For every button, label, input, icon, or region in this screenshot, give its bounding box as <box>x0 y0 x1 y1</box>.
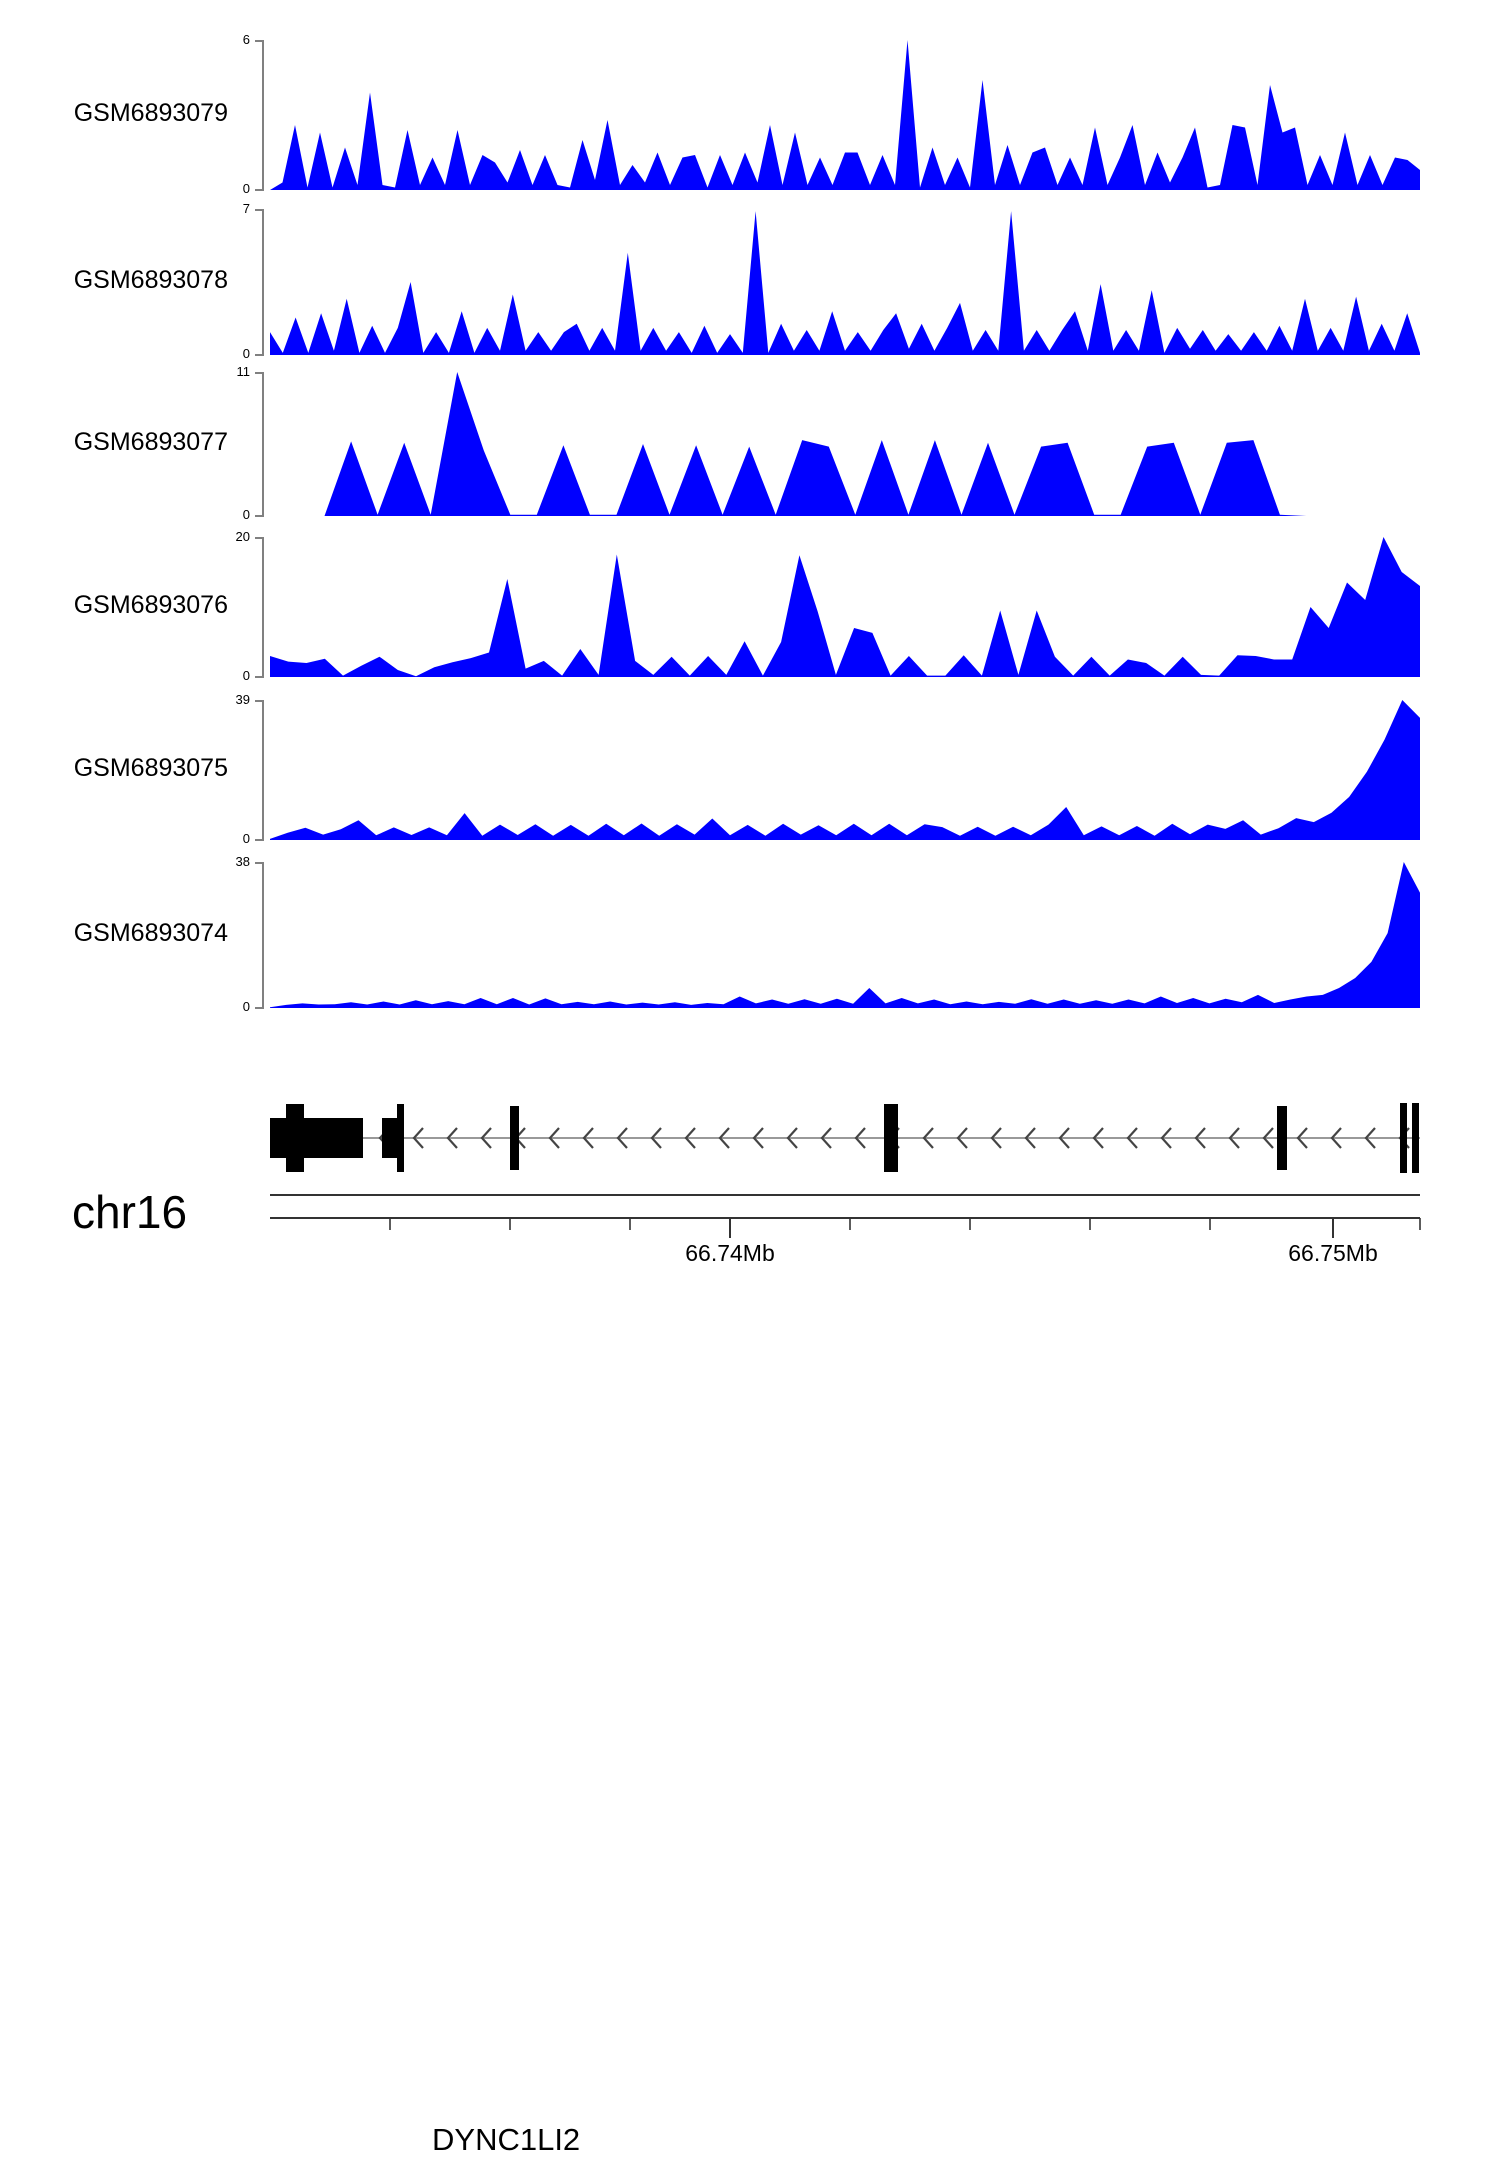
coverage-area-GSM6893078 <box>270 209 1420 355</box>
y-axis-min-label: 0 <box>210 507 250 522</box>
y-axis-tick-min <box>255 1007 264 1009</box>
coverage-area-GSM6893074 <box>270 862 1420 1008</box>
gene-name-label: DYNC1LI2 <box>432 2122 580 2158</box>
y-axis-tick-max <box>255 209 264 211</box>
y-axis-max-label: 39 <box>210 692 250 707</box>
y-axis-tick-max <box>255 862 264 864</box>
y-axis-tick-max <box>255 537 264 539</box>
y-axis-line <box>262 700 264 840</box>
track-label-GSM6893077: GSM6893077 <box>0 428 228 457</box>
y-axis-line <box>262 40 264 190</box>
ruler-tick-label: 66.75Mb <box>1258 1240 1408 1267</box>
y-axis-min-label: 0 <box>210 999 250 1014</box>
y-axis-min-label: 0 <box>210 346 250 361</box>
y-axis-tick-min <box>255 839 264 841</box>
genome-browser-figure: GSM689307960GSM689307870GSM6893077110GSM… <box>0 0 1500 1320</box>
y-axis-tick-min <box>255 676 264 678</box>
y-axis-line <box>262 537 264 677</box>
y-axis-max-label: 7 <box>210 201 250 216</box>
y-axis-max-label: 11 <box>210 364 250 379</box>
y-axis-min-label: 0 <box>210 831 250 846</box>
y-axis-line <box>262 209 264 355</box>
y-axis-max-label: 20 <box>210 529 250 544</box>
y-axis-tick-min <box>255 515 264 517</box>
y-axis-line <box>262 862 264 1008</box>
y-axis-min-label: 0 <box>210 181 250 196</box>
coverage-area-GSM6893077 <box>270 372 1420 516</box>
y-axis-tick-max <box>255 700 264 702</box>
coverage-area-GSM6893075 <box>270 700 1420 840</box>
gene-model-track: DYNC1LI2 <box>0 1060 1500 1195</box>
y-axis-max-label: 38 <box>210 854 250 869</box>
coverage-area-GSM6893076 <box>270 537 1420 677</box>
y-axis-min-label: 0 <box>210 668 250 683</box>
y-axis-tick-min <box>255 354 264 356</box>
track-label-GSM6893079: GSM6893079 <box>0 99 228 128</box>
track-label-GSM6893075: GSM6893075 <box>0 754 228 783</box>
y-axis-tick-max <box>255 40 264 42</box>
y-axis-max-label: 6 <box>210 32 250 47</box>
y-axis-tick-max <box>255 372 264 374</box>
coverage-area-GSM6893079 <box>270 40 1420 190</box>
y-axis-line <box>262 372 264 516</box>
genome-coordinate-ruler: 66.74Mb66.75Mb <box>0 1190 1500 1310</box>
gene-model-svg <box>0 1060 1500 1200</box>
track-label-GSM6893078: GSM6893078 <box>0 266 228 295</box>
ruler-tick-label: 66.74Mb <box>655 1240 805 1267</box>
track-label-GSM6893074: GSM6893074 <box>0 919 228 948</box>
y-axis-tick-min <box>255 189 264 191</box>
track-label-GSM6893076: GSM6893076 <box>0 591 228 620</box>
